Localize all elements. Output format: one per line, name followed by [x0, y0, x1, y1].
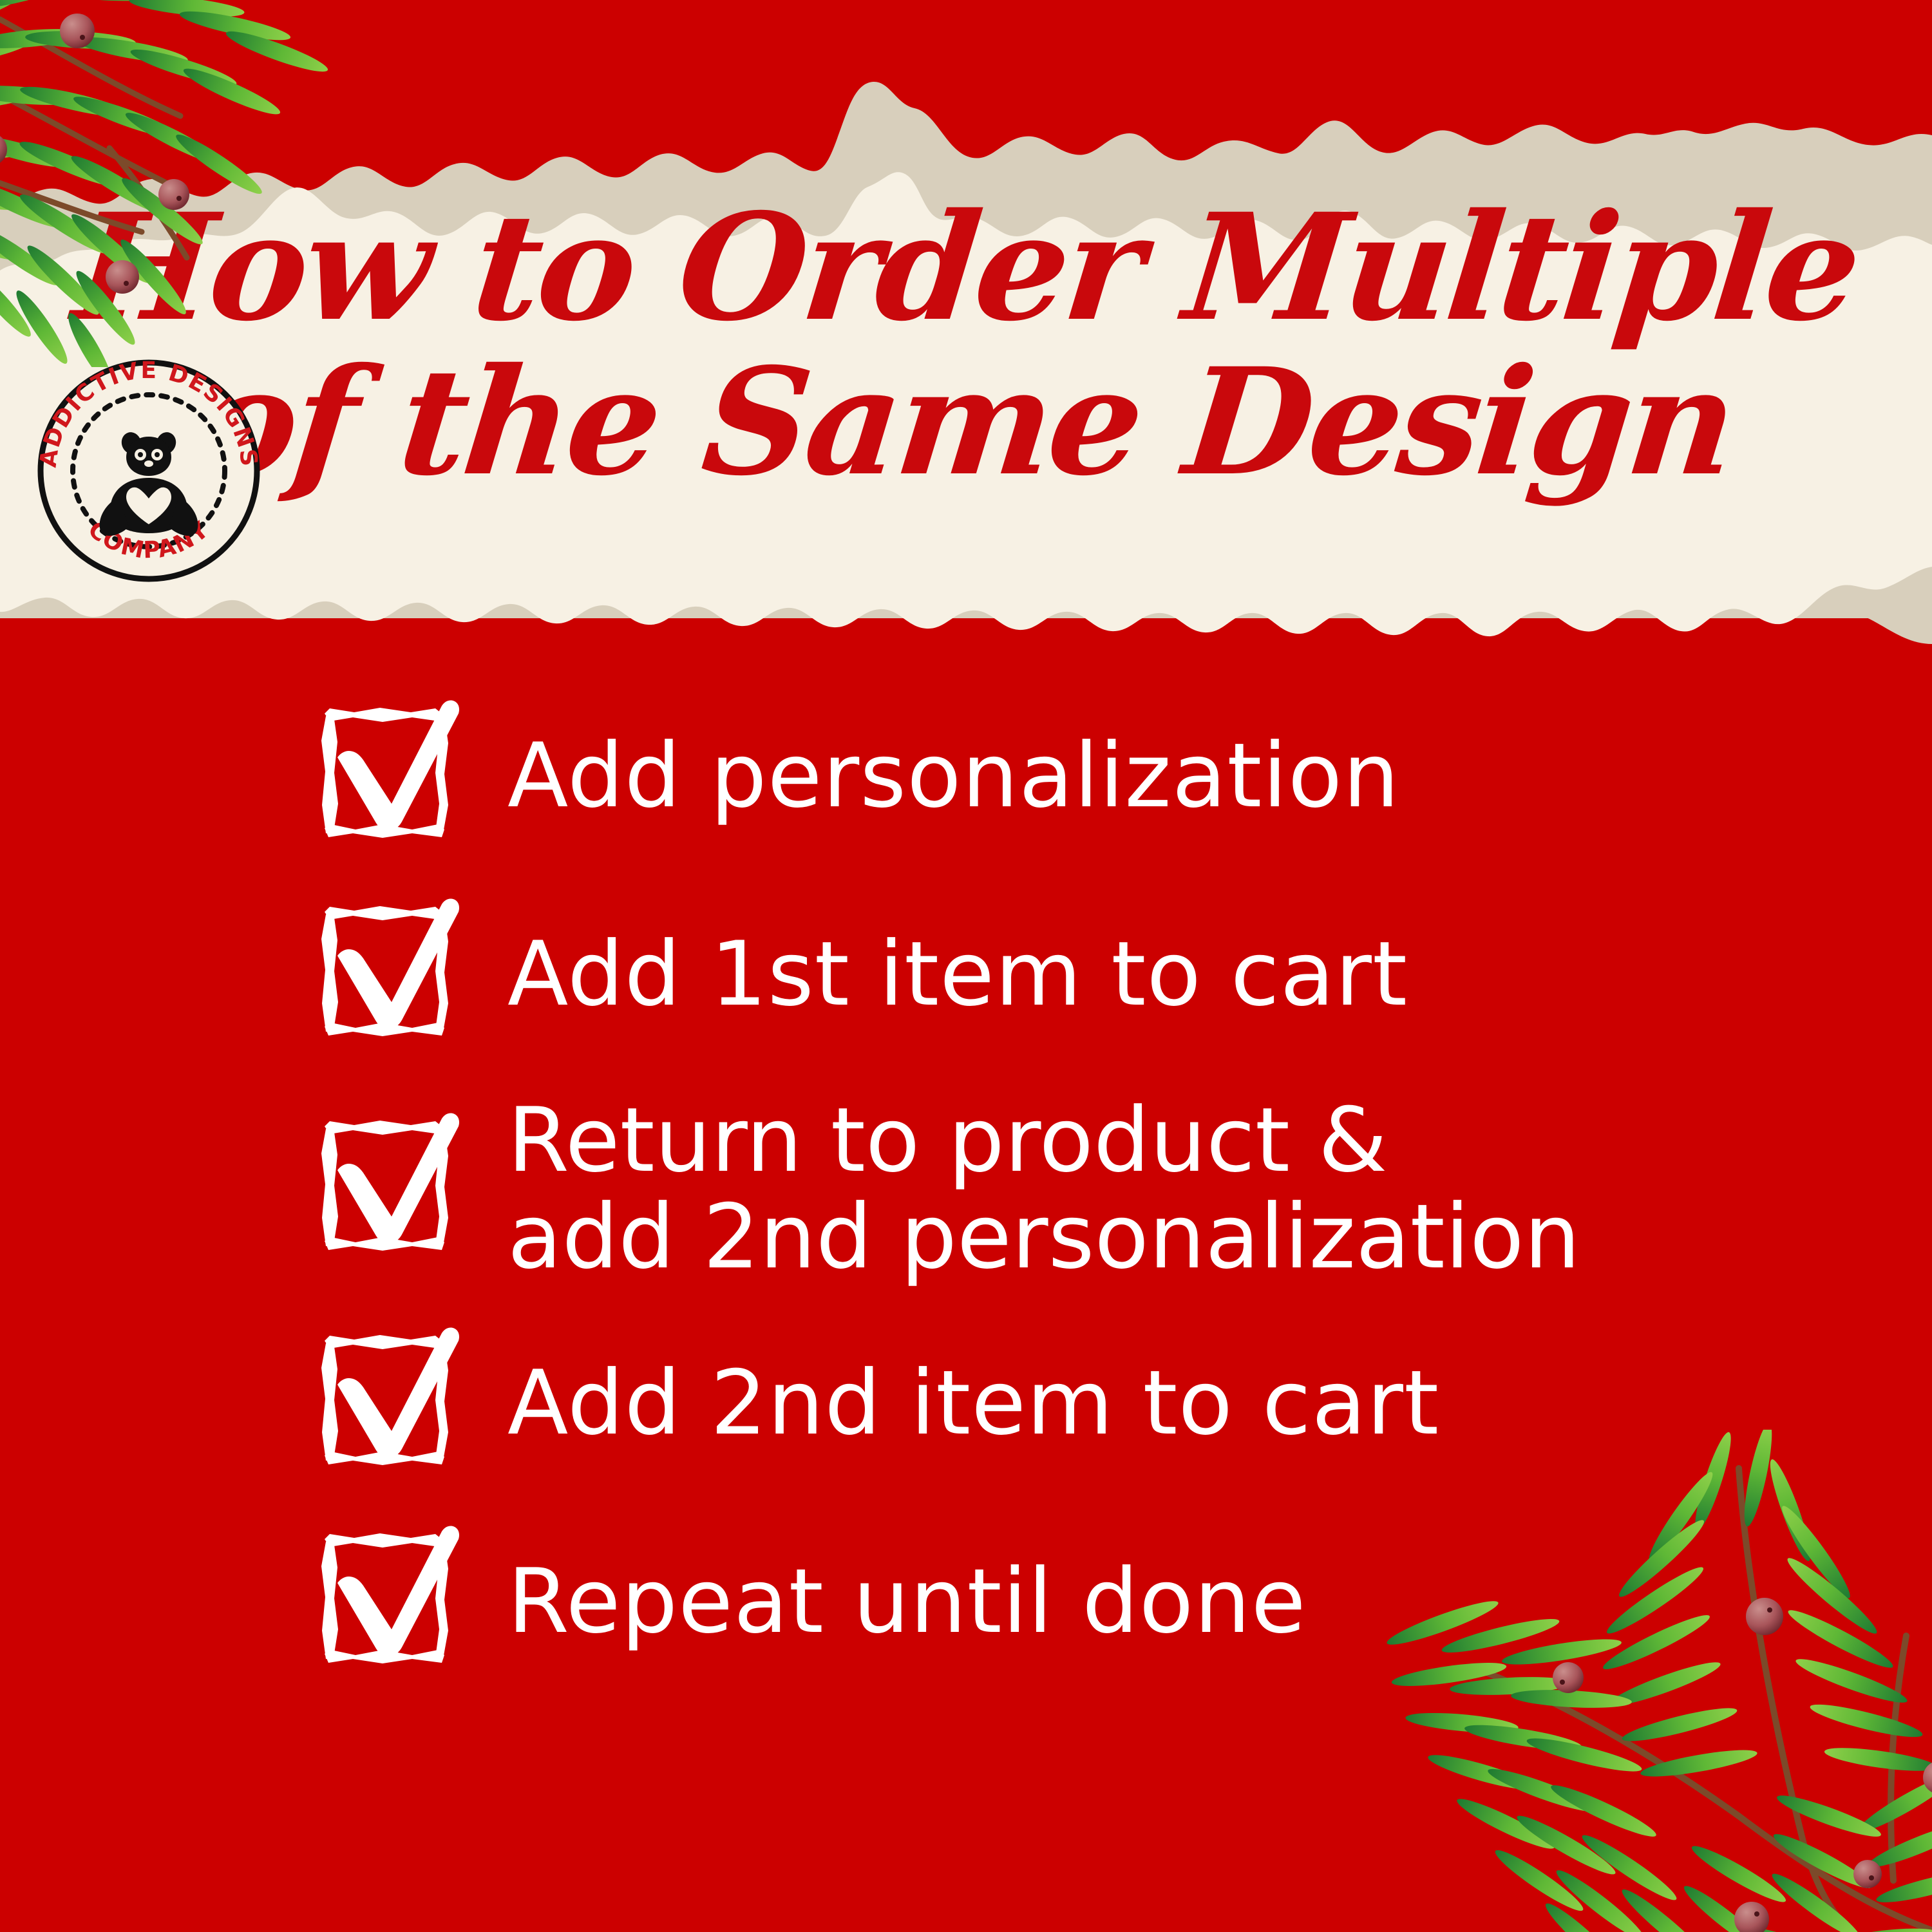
- checked-checkbox-icon[interactable]: [316, 894, 477, 1055]
- pine-needles: [1384, 1430, 1932, 1932]
- checklist-item-3[interactable]: Return to product & add 2nd personalizat…: [0, 1092, 1932, 1285]
- poster-canvas: How to Order Multiple of the Same Design…: [0, 0, 1932, 1932]
- checklist-item-2[interactable]: Add 1st item to cart: [0, 894, 1932, 1055]
- checklist-label-3: Return to product & add 2nd personalizat…: [507, 1092, 1580, 1285]
- checked-checkbox-icon[interactable]: [316, 1323, 477, 1484]
- pine-branch-bottom-right-icon: [1378, 1430, 1932, 1932]
- logo-badge: ADDICTIVE DESIGNS COMPANY: [36, 358, 261, 583]
- checklist-label-4: Add 2nd item to cart: [507, 1355, 1439, 1452]
- pine-branch-top-left-icon: [0, 0, 412, 367]
- brand-logo: ADDICTIVE DESIGNS COMPANY: [36, 358, 261, 583]
- checked-checkbox-icon[interactable]: [316, 1108, 477, 1269]
- checklist-item-1[interactable]: Add personalization: [0, 696, 1932, 857]
- checklist-label-1: Add personalization: [507, 728, 1400, 824]
- checklist-label-2: Add 1st item to cart: [507, 926, 1408, 1023]
- checklist-label-5: Repeat until done: [507, 1553, 1307, 1650]
- checked-checkbox-icon[interactable]: [316, 1521, 477, 1682]
- checked-checkbox-icon[interactable]: [316, 696, 477, 857]
